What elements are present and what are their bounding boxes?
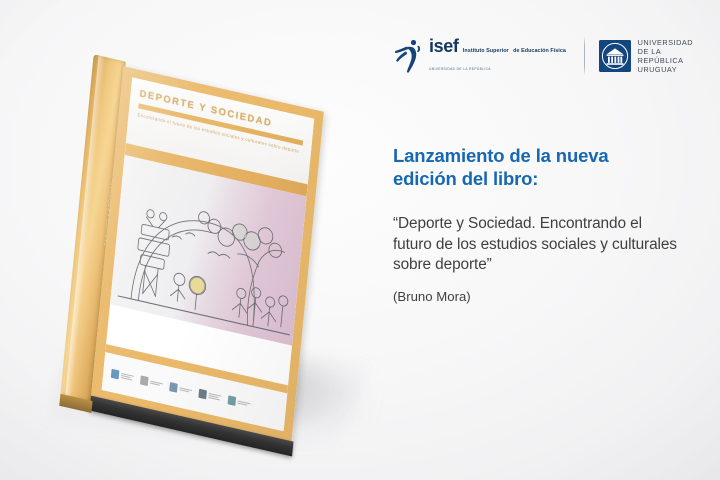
sponsor-mark-icon [169, 382, 178, 393]
cover-inner-panel: DEPORTE Y SOCIEDAD Encontrando el futuro… [102, 77, 315, 431]
sponsor-text-lines [208, 392, 221, 400]
isef-subtitle-line1: Instituto Superior [463, 48, 509, 54]
book-mockup: DEPORTE Y SOCIEDAD DEPORTE Y SOCIEDAD En… [40, 20, 370, 440]
isef-running-figure-icon [393, 36, 423, 76]
udelar-wordmark-block: UNIVERSIDAD DE LA REPÚBLICA URUGUAY [638, 38, 693, 75]
book-front-cover: DEPORTE Y SOCIEDAD Encontrando el futuro… [91, 66, 324, 442]
udelar-line3: URUGUAY [638, 65, 677, 74]
book-3d-body: DEPORTE Y SOCIEDAD DEPORTE Y SOCIEDAD En… [62, 60, 326, 441]
sponsor-logo-4 [198, 388, 221, 402]
logo-divider [584, 36, 585, 76]
promotional-poster: DEPORTE Y SOCIEDAD DEPORTE Y SOCIEDAD En… [0, 0, 720, 480]
sponsor-mark-icon [111, 368, 120, 379]
isef-wordmark-block: isef Instituto Superior de Educación Fís… [429, 37, 570, 75]
udelar-shield-icon [599, 40, 631, 72]
sponsor-text-lines [179, 387, 192, 393]
announcement-headline: Lanzamiento de la nueva edición del libr… [393, 145, 675, 190]
udelar-line1: UNIVERSIDAD [638, 38, 693, 47]
isef-mark-icon [228, 395, 237, 406]
headline-line-1: Lanzamiento de la nueva [393, 145, 609, 166]
sponsor-logo-isef [228, 395, 251, 409]
headline-line-2: edición del libro: [393, 168, 538, 189]
isef-subtitle-line2: de Educación Física [513, 48, 566, 54]
sponsor-text-lines [121, 372, 134, 380]
sponsor-logo-3 [169, 382, 192, 396]
sponsor-logo-1 [111, 368, 134, 382]
book-title-quote: “Deporte y Sociedad. Encontrando el futu… [393, 214, 683, 276]
sponsor-mark-icon [198, 388, 207, 399]
isef-logo: isef Instituto Superior de Educación Fís… [393, 36, 570, 76]
udelar-logo: UNIVERSIDAD DE LA REPÚBLICA URUGUAY [599, 38, 693, 75]
content-panel: isef Instituto Superior de Educación Fís… [393, 0, 693, 480]
sponsor-logo-2 [140, 375, 163, 389]
sponsor-text-lines [150, 380, 163, 386]
isef-subtitle-line3: UNIVERSIDAD DE LA REPÚBLICA [429, 67, 491, 71]
sponsor-mark-icon [140, 375, 149, 386]
book-author: (Bruno Mora) [393, 288, 471, 305]
logo-bar: isef Instituto Superior de Educación Fís… [393, 36, 693, 76]
isef-wordmark: isef [429, 36, 458, 56]
udelar-line2: DE LA REPÚBLICA [638, 47, 684, 65]
sponsor-text-lines [238, 400, 251, 406]
